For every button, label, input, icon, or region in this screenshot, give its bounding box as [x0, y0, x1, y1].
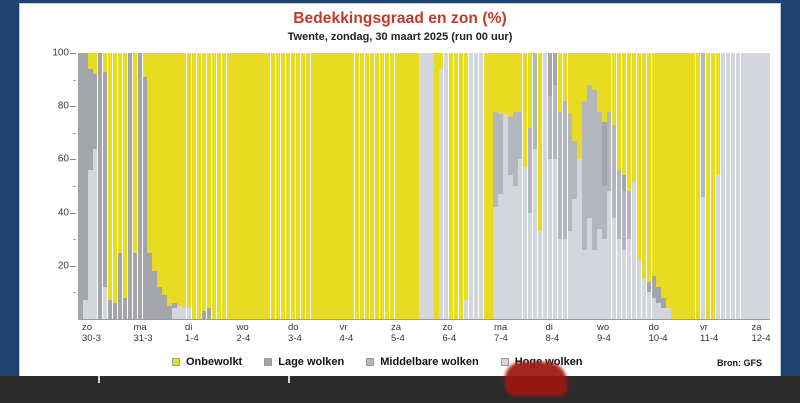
bar-segment-clear	[202, 53, 206, 311]
stacked-bar	[266, 53, 270, 319]
stacked-bar	[765, 53, 769, 319]
bar-segment-clear	[587, 53, 591, 85]
bar-segment-high	[750, 53, 754, 319]
stacked-bar	[607, 53, 611, 319]
stacked-bar	[602, 53, 606, 319]
stacked-bar	[227, 53, 231, 319]
bar-segment-high	[587, 218, 591, 319]
x-axis-day-label: vr11-4	[696, 322, 748, 344]
stacked-bar	[315, 53, 319, 319]
bar-segment-clear	[301, 53, 305, 319]
bar-segment-low	[93, 74, 97, 148]
bar-segment-clear	[513, 53, 517, 112]
bar-segment-high	[424, 53, 428, 319]
stacked-bar	[395, 53, 399, 319]
bar-segment-high	[656, 303, 660, 319]
bar-segment-low	[88, 69, 92, 170]
bar-segment-clear	[434, 53, 438, 319]
stacked-bar	[301, 53, 305, 319]
bar-segment-clear	[563, 53, 567, 101]
bar-segment-high	[622, 250, 626, 319]
bar-segment-low	[118, 253, 122, 320]
bar-segment-high	[642, 279, 646, 319]
stacked-bar	[157, 53, 161, 319]
bar-segment-high	[652, 298, 656, 319]
x-axis-day-label: di1-4	[181, 322, 233, 344]
stacked-bar	[533, 53, 537, 319]
legend-item-clear[interactable]: Onbewolkt	[172, 356, 242, 368]
stacked-bar	[503, 53, 507, 319]
stacked-bar	[414, 53, 418, 319]
bar-segment-high	[755, 53, 759, 319]
bar-segment-clear	[227, 53, 231, 319]
bar-segment-high	[721, 53, 725, 319]
x-axis-dow: vr	[340, 322, 388, 333]
bar-segment-high	[187, 308, 191, 319]
stacked-bar	[330, 53, 334, 319]
stacked-bar	[464, 53, 468, 319]
stacked-bar	[207, 53, 211, 319]
stacked-bar	[474, 53, 478, 319]
stacked-bar	[187, 53, 191, 319]
bar-segment-clear	[652, 53, 656, 276]
legend-label: Onbewolkt	[186, 356, 242, 368]
x-axis-dow: wo	[237, 322, 285, 333]
stacked-bar	[261, 53, 265, 319]
bar-segment-clear	[113, 53, 117, 303]
stacked-bar	[548, 53, 552, 319]
bar-segment-clear	[311, 53, 315, 319]
x-axis-dow: do	[288, 322, 336, 333]
stacked-bar	[286, 53, 290, 319]
bar-segment-high	[553, 159, 557, 319]
bar-segment-high	[577, 159, 581, 319]
stacked-bar	[177, 53, 181, 319]
day-group	[622, 53, 671, 319]
bar-segment-clear	[167, 53, 171, 306]
y-axis-tick	[70, 106, 76, 107]
stacked-bar	[632, 53, 636, 319]
bar-segment-high	[701, 197, 705, 319]
x-axis-dow: zo	[443, 322, 491, 333]
stacked-bar	[236, 53, 240, 319]
stacked-bar	[681, 53, 685, 319]
bar-segment-high	[760, 53, 764, 319]
bar-segment-mid	[582, 101, 586, 250]
desktop-screen: Bedekkingsgraad en zon (%) Twente, zonda…	[0, 0, 800, 403]
y-axis-label: 20	[58, 260, 69, 271]
x-axis-day-label: wo9-4	[593, 322, 645, 344]
bar-segment-mid	[548, 96, 552, 160]
bar-segment-high	[93, 149, 97, 319]
bar-segment-mid	[498, 114, 502, 194]
bar-segment-mid	[607, 112, 611, 192]
x-axis-date: 6-4	[443, 333, 491, 344]
bar-segment-mid	[592, 90, 596, 250]
stacked-bar	[128, 53, 132, 319]
stacked-bar	[647, 53, 651, 319]
bar-segment-clear	[523, 53, 527, 167]
bar-segment-clear	[197, 53, 201, 319]
stacked-bar	[409, 53, 413, 319]
bar-segment-clear	[355, 53, 359, 319]
stacked-bar	[671, 53, 675, 319]
bar-segment-high	[543, 53, 547, 319]
legend-label: Middelbare wolken	[380, 356, 478, 368]
day-group	[78, 53, 127, 319]
bar-segment-clear	[365, 53, 369, 319]
bar-segment-clear	[345, 53, 349, 319]
bar-segment-high	[538, 231, 542, 319]
bar-segment-clear	[276, 53, 280, 319]
bar-segment-low	[162, 295, 166, 319]
bar-segment-low	[128, 53, 132, 319]
bar-segment-clear	[375, 53, 379, 319]
bar-segment-high	[479, 53, 483, 319]
chart-header: Bedekkingsgraad en zon (%) Twente, zonda…	[20, 4, 780, 43]
x-axis-day-label: za5-4	[387, 322, 439, 344]
bar-segment-mid	[612, 125, 616, 218]
bar-segment-mid	[627, 191, 631, 239]
bar-segment-clear	[498, 53, 502, 114]
stacked-bar	[696, 53, 700, 319]
bar-segment-clear	[637, 53, 641, 260]
bar-segment-clear	[286, 53, 290, 319]
bar-segment-clear	[93, 53, 97, 74]
bar-segment-clear	[187, 53, 191, 308]
bar-segment-low	[661, 298, 665, 309]
stacked-bar	[508, 53, 512, 319]
x-axis-dow: zo	[82, 322, 130, 333]
taskbar-tick-icon	[98, 376, 100, 383]
stacked-bar	[563, 53, 567, 319]
bar-segment-high	[513, 186, 517, 319]
bar-segment-clear	[503, 53, 507, 114]
stacked-bar	[192, 53, 196, 319]
x-axis-day-label: zo6-4	[439, 322, 491, 344]
y-axis-minor-tick	[73, 239, 76, 240]
bar-segment-clear	[686, 53, 690, 319]
x-axis-dow: ma	[134, 322, 182, 333]
legend-swatch-icon	[264, 358, 272, 366]
x-axis-day-label: za12-4	[748, 322, 800, 344]
day-group	[325, 53, 374, 319]
y-axis-label: 40	[58, 207, 69, 218]
bar-segment-high	[558, 239, 562, 319]
y-axis-minor-tick	[73, 133, 76, 134]
bar-segment-low	[152, 271, 156, 319]
bar-segment-clear	[385, 53, 389, 319]
stacked-bar	[93, 53, 97, 319]
stacked-bar	[256, 53, 260, 319]
bar-segment-clear	[306, 53, 310, 319]
bar-segment-clear	[390, 53, 394, 319]
bar-segment-clear	[484, 53, 488, 319]
bar-segment-clear	[706, 53, 710, 319]
stacked-bar	[691, 53, 695, 319]
stacked-bar	[113, 53, 117, 319]
x-axis-day-label: wo2-4	[233, 322, 285, 344]
stacked-bar	[306, 53, 310, 319]
stacked-bar	[429, 53, 433, 319]
stacked-bar	[637, 53, 641, 319]
bar-segment-low	[167, 306, 171, 319]
legend-swatch-icon	[366, 358, 374, 366]
stacked-bar	[493, 53, 497, 319]
bar-segment-low	[157, 287, 161, 319]
bar-segment-high	[103, 287, 107, 319]
taskbar-tick-icon	[288, 376, 290, 383]
stacked-bar	[404, 53, 408, 319]
day-group	[572, 53, 621, 319]
x-axis-date: 1-4	[185, 333, 233, 344]
bar-segment-clear	[108, 53, 112, 300]
stacked-bar	[162, 53, 166, 319]
stacked-bar	[365, 53, 369, 319]
x-axis-date: 4-4	[340, 333, 388, 344]
x-axis-date: 8-4	[546, 333, 594, 344]
bar-segment-high	[647, 292, 651, 319]
bar-segment-clear	[88, 53, 92, 69]
x-axis-date: 10-4	[649, 333, 697, 344]
bar-segment-high	[528, 213, 532, 319]
y-axis: 20406080100	[49, 53, 78, 319]
bar-segment-low	[622, 175, 626, 191]
stacked-bar	[454, 53, 458, 319]
bar-segment-high	[592, 250, 596, 319]
stacked-bar	[661, 53, 665, 319]
x-axis-date: 31-3	[134, 333, 182, 344]
stacked-bar	[138, 53, 142, 319]
chart-window: Bedekkingsgraad en zon (%) Twente, zonda…	[19, 3, 781, 381]
bar-segment-clear	[449, 53, 453, 319]
taskbar[interactable]	[0, 376, 800, 403]
bar-segment-low	[202, 311, 206, 319]
bar-segment-clear	[207, 53, 211, 308]
bar-segment-clear	[266, 53, 270, 319]
bar-segment-high	[745, 53, 749, 319]
bar-segment-clear	[380, 53, 384, 319]
day-group	[127, 53, 176, 319]
bar-segment-clear	[582, 53, 586, 101]
x-axis-dow: vr	[700, 322, 748, 333]
bar-segment-high	[741, 53, 745, 319]
bar-segment-clear	[162, 53, 166, 295]
bar-segment-high	[726, 53, 730, 319]
stacked-bar	[291, 53, 295, 319]
bar-segment-high	[627, 239, 631, 319]
bar-segment-high	[632, 181, 636, 319]
stacked-bar	[711, 53, 715, 319]
bar-segment-clear	[291, 53, 295, 319]
stacked-bar	[98, 53, 102, 319]
bar-segment-clear	[414, 53, 418, 319]
y-axis-label: 60	[58, 154, 69, 165]
bar-segment-low	[78, 53, 82, 319]
x-axis-day-label: ma31-3	[130, 322, 182, 344]
day-group	[177, 53, 226, 319]
bar-segment-clear	[676, 53, 680, 319]
stacked-bar	[182, 53, 186, 319]
bar-segment-low	[98, 53, 102, 319]
stacked-bar	[241, 53, 245, 319]
stacked-bar	[587, 53, 591, 319]
y-axis-minor-tick	[73, 80, 76, 81]
x-axis-date: 12-4	[752, 333, 800, 344]
stacked-bar	[538, 53, 542, 319]
bar-segment-low	[553, 53, 557, 85]
bar-segment-high	[607, 191, 611, 319]
stacked-bar	[592, 53, 596, 319]
bar-segment-clear	[696, 53, 700, 319]
x-axis-date: 2-4	[237, 333, 285, 344]
stacked-bar	[434, 53, 438, 319]
stacked-bar	[78, 53, 82, 319]
stacked-bar	[399, 53, 403, 319]
taskbar-red-marker-icon	[505, 362, 567, 396]
bar-segment-clear	[143, 53, 147, 77]
bar-segment-clear	[256, 53, 260, 319]
stacked-bar	[345, 53, 349, 319]
stacked-bar	[350, 53, 354, 319]
bar-segment-clear	[217, 53, 221, 319]
y-axis-minor-tick	[73, 292, 76, 293]
bar-segment-high	[464, 300, 468, 319]
stacked-bar	[701, 53, 705, 319]
stacked-bar	[212, 53, 216, 319]
bar-segment-high	[765, 53, 769, 319]
bar-segment-clear	[395, 53, 399, 319]
plot-area: 20406080100	[49, 53, 770, 319]
stacked-bar	[246, 53, 250, 319]
x-axis-date: 9-4	[597, 333, 645, 344]
legend-label: Lage wolken	[278, 356, 344, 368]
stacked-bar	[745, 53, 749, 319]
bar-segment-mid	[563, 101, 567, 239]
stacked-bar	[686, 53, 690, 319]
bar-segment-high	[523, 167, 527, 319]
bar-segment-clear	[409, 53, 413, 319]
legend-item-mid[interactable]: Middelbare wolken	[366, 356, 478, 368]
bar-segment-clear	[350, 53, 354, 319]
stacked-bar	[627, 53, 631, 319]
legend-item-low[interactable]: Lage wolken	[264, 356, 344, 368]
bar-segment-clear	[212, 53, 216, 319]
bar-segment-clear	[454, 53, 458, 319]
stacked-bar	[612, 53, 616, 319]
stacked-bar	[231, 53, 235, 319]
stacked-bar	[459, 53, 463, 319]
bar-segment-clear	[642, 53, 646, 279]
stacked-bar	[251, 53, 255, 319]
x-axis-dow: ma	[494, 322, 542, 333]
bar-segment-high	[177, 306, 181, 319]
stacked-bar	[311, 53, 315, 319]
stacked-bar	[513, 53, 517, 319]
bar-segment-low	[133, 253, 137, 320]
bar-segment-clear	[528, 53, 532, 127]
bar-segment-mid	[558, 112, 562, 240]
stacked-bar	[167, 53, 171, 319]
y-axis-tick	[70, 266, 76, 267]
bar-segment-clear	[325, 53, 329, 319]
bar-segment-low	[647, 282, 651, 293]
stacked-bar	[479, 53, 483, 319]
day-group	[226, 53, 275, 319]
stacked-bar	[731, 53, 735, 319]
stacked-bar	[108, 53, 112, 319]
bar-segment-mid	[572, 141, 576, 200]
day-group	[276, 53, 325, 319]
bar-segment-high	[661, 308, 665, 319]
stacked-bar	[281, 53, 285, 319]
bar-segment-high	[182, 308, 186, 319]
stacked-bar	[656, 53, 660, 319]
bar-segment-high	[582, 250, 586, 319]
x-axis-day-label: zo30-3	[78, 322, 130, 344]
bar-segment-high	[429, 53, 433, 319]
stacked-bar	[706, 53, 710, 319]
x-axis-dow: di	[546, 322, 594, 333]
bar-segment-clear	[360, 53, 364, 319]
stacked-bar	[439, 53, 443, 319]
stacked-bar	[375, 53, 379, 319]
stacked-bar	[202, 53, 206, 319]
bar-segment-clear	[661, 53, 665, 298]
day-group	[424, 53, 473, 319]
bar-segment-low	[108, 300, 112, 319]
bar-segment-clear	[133, 53, 137, 253]
x-axis-day-label: do3-4	[284, 322, 336, 344]
stacked-bar	[721, 53, 725, 319]
bar-segment-clear	[459, 53, 463, 319]
stacked-bar	[143, 53, 147, 319]
legend-swatch-icon	[501, 358, 509, 366]
y-axis-tick	[70, 53, 76, 54]
bar-segment-clear	[177, 53, 181, 306]
bar-segment-mid	[622, 191, 626, 250]
stacked-bar	[523, 53, 527, 319]
bar-segment-clear	[508, 53, 512, 117]
bar-segment-clear	[118, 53, 122, 253]
bar-segment-clear	[251, 53, 255, 319]
x-axis-dow: za	[391, 322, 439, 333]
bar-segment-clear	[602, 53, 606, 122]
stacked-bar	[558, 53, 562, 319]
stacked-bar	[152, 53, 156, 319]
bar-segment-clear	[627, 53, 631, 191]
stacked-bar	[572, 53, 576, 319]
bar-segment-high	[508, 175, 512, 319]
bar-segment-mid	[587, 85, 591, 218]
day-group	[473, 53, 522, 319]
stacked-bar	[741, 53, 745, 319]
stacked-bar	[736, 53, 740, 319]
x-axis-day-label: vr4-4	[336, 322, 388, 344]
bar-segment-clear	[439, 53, 443, 69]
bar-segment-high	[493, 207, 497, 319]
bar-segment-high	[533, 149, 537, 319]
bar-segment-high	[736, 53, 740, 319]
stacked-bar	[652, 53, 656, 319]
stacked-bar	[118, 53, 122, 319]
bar-segment-clear	[577, 53, 581, 159]
bar-segment-mid	[533, 53, 537, 149]
bar-segment-clear	[147, 53, 151, 253]
stacked-bar	[83, 53, 87, 319]
x-axis-date: 30-3	[82, 333, 130, 344]
stacked-bar	[449, 53, 453, 319]
